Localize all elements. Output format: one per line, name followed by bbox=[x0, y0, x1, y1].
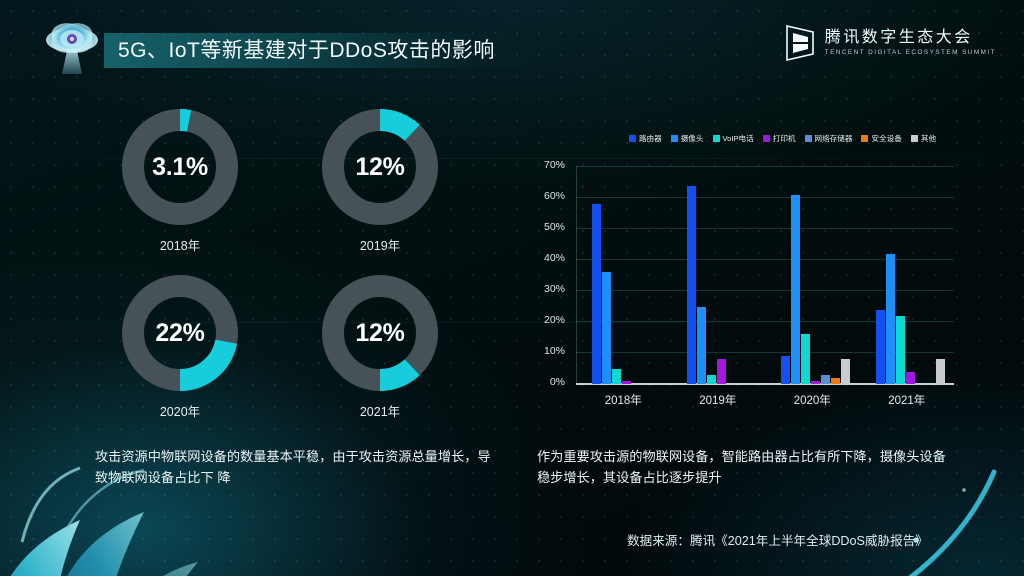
bar-2021年-其他[interactable] bbox=[936, 359, 945, 384]
legend-label: 网络存储器 bbox=[815, 133, 853, 144]
donut-value: 3.1% bbox=[121, 108, 239, 226]
legend-item-其他[interactable]: 其他 bbox=[911, 133, 936, 144]
bar-2020年-路由器[interactable] bbox=[781, 356, 790, 384]
legend-item-安全设备[interactable]: 安全设备 bbox=[861, 133, 901, 144]
bar-2020年-摄像头[interactable] bbox=[791, 195, 800, 384]
tencent-summit-mark-icon bbox=[785, 24, 815, 62]
bar-2019年-打印机[interactable] bbox=[717, 359, 726, 384]
legend-label: 其他 bbox=[921, 133, 936, 144]
flower-icon bbox=[32, 18, 118, 74]
y-axis-tick-label: 50% bbox=[529, 221, 565, 233]
bar-group-2020年 bbox=[781, 195, 850, 384]
y-axis-tick-label: 70% bbox=[529, 159, 565, 171]
x-axis-tick-label: 2019年 bbox=[678, 392, 758, 408]
donut-ring: 22% bbox=[121, 274, 239, 392]
bar-2019年-路由器[interactable] bbox=[687, 186, 696, 384]
bar-2021年-路由器[interactable] bbox=[876, 310, 885, 384]
bar-chart: 路由器摄像头VoIP电话打印机网络存储器安全设备其他 2018年2019年202… bbox=[525, 130, 970, 420]
y-axis-tick-label: 10% bbox=[529, 345, 565, 357]
x-axis-tick-label: 2018年 bbox=[583, 392, 663, 408]
bar-2019年-VoIP电话[interactable] bbox=[707, 375, 716, 384]
legend-label: 路由器 bbox=[639, 133, 662, 144]
bar-2020年-VoIP电话[interactable] bbox=[801, 334, 810, 384]
donut-chart-panel: 3.1%2018年12%2019年22%2020年12%2021年 bbox=[86, 108, 506, 438]
bar-group-2019年 bbox=[687, 186, 756, 384]
bar-2018年-路由器[interactable] bbox=[592, 204, 601, 384]
donut-ring: 12% bbox=[321, 108, 439, 226]
y-axis-tick-label: 60% bbox=[529, 190, 565, 202]
page-title: 5G、IoT等新基建对于DDoS攻击的影响 bbox=[118, 33, 495, 68]
caption-left: 攻击资源中物联网设备的数量基本平稳，由于攻击资源总量增长，导致物联网设备占比下 … bbox=[95, 446, 495, 488]
legend-swatch-icon bbox=[763, 135, 770, 142]
x-axis-tick-label: 2020年 bbox=[772, 392, 852, 408]
y-axis-tick-label: 30% bbox=[529, 283, 565, 295]
logo-title-en: TENCENT DIGITAL ECOSYSTEM SUMMIT bbox=[825, 49, 996, 57]
caption-right: 作为重要攻击源的物联网设备，智能路由器占比有所下降，摄像头设备稳步增长，其设备占… bbox=[537, 446, 957, 488]
bar-2020年-打印机[interactable] bbox=[811, 381, 820, 384]
donut-chart-2021年: 12%2021年 bbox=[300, 274, 460, 420]
bar-2021年-摄像头[interactable] bbox=[886, 254, 895, 384]
donut-chart-2019年: 12%2019年 bbox=[300, 108, 460, 254]
x-axis-labels: 2018年2019年2020年2021年 bbox=[576, 392, 954, 412]
y-axis-tick-label: 0% bbox=[529, 376, 565, 388]
bar-2019年-摄像头[interactable] bbox=[697, 307, 706, 385]
slide-header: 5G、IoT等新基建对于DDoS攻击的影响 腾讯数字生态大会 TENCENT D… bbox=[0, 0, 1024, 84]
legend-label: 安全设备 bbox=[871, 133, 901, 144]
legend-label: VoIP电话 bbox=[723, 133, 754, 144]
bar-2021年-VoIP电话[interactable] bbox=[896, 316, 905, 384]
legend-swatch-icon bbox=[629, 135, 636, 142]
gridline bbox=[576, 166, 954, 167]
donut-label: 2020年 bbox=[100, 401, 260, 420]
donut-ring: 12% bbox=[321, 274, 439, 392]
legend-swatch-icon bbox=[911, 135, 918, 142]
legend-swatch-icon bbox=[805, 135, 812, 142]
chart-legend: 路由器摄像头VoIP电话打印机网络存储器安全设备其他 bbox=[605, 130, 960, 146]
legend-item-打印机[interactable]: 打印机 bbox=[763, 133, 796, 144]
y-axis-tick-label: 40% bbox=[529, 252, 565, 264]
bar-2020年-其他[interactable] bbox=[841, 359, 850, 384]
bar-2020年-安全设备[interactable] bbox=[831, 378, 840, 384]
donut-chart-2020年: 22%2020年 bbox=[100, 274, 260, 420]
donut-value: 12% bbox=[321, 274, 439, 392]
bar-2020年-网络存储器[interactable] bbox=[821, 375, 830, 384]
donut-ring: 3.1% bbox=[121, 108, 239, 226]
legend-swatch-icon bbox=[713, 135, 720, 142]
legend-label: 摄像头 bbox=[681, 133, 704, 144]
donut-value: 22% bbox=[121, 274, 239, 392]
tencent-summit-logo: 腾讯数字生态大会 TENCENT DIGITAL ECOSYSTEM SUMMI… bbox=[785, 22, 996, 64]
bar-2018年-VoIP电话[interactable] bbox=[612, 369, 621, 385]
bar-group-2018年 bbox=[592, 204, 661, 384]
legend-item-路由器[interactable]: 路由器 bbox=[629, 133, 662, 144]
x-axis-tick-label: 2021年 bbox=[867, 392, 947, 408]
bar-2018年-摄像头[interactable] bbox=[602, 272, 611, 384]
donut-value: 12% bbox=[321, 108, 439, 226]
donut-label: 2019年 bbox=[300, 235, 460, 254]
y-axis-tick-label: 20% bbox=[529, 314, 565, 326]
chart-plot-area: 2018年2019年2020年2021年 0%10%20%30%40%50%60… bbox=[525, 166, 970, 402]
legend-swatch-icon bbox=[861, 135, 868, 142]
donut-chart-2018年: 3.1%2018年 bbox=[100, 108, 260, 254]
bar-2021年-打印机[interactable] bbox=[906, 372, 915, 384]
legend-item-VoIP电话[interactable]: VoIP电话 bbox=[713, 133, 754, 144]
donut-label: 2018年 bbox=[100, 235, 260, 254]
data-source-footnote: 数据来源：腾讯《2021年上半年全球DDoS威胁报告》 bbox=[627, 530, 928, 549]
logo-title-cn: 腾讯数字生态大会 bbox=[825, 29, 996, 47]
bar-group-2021年 bbox=[876, 254, 945, 384]
legend-item-网络存储器[interactable]: 网络存储器 bbox=[805, 133, 853, 144]
bar-2018年-打印机[interactable] bbox=[622, 381, 631, 384]
gridline bbox=[576, 197, 954, 198]
donut-label: 2021年 bbox=[300, 401, 460, 420]
legend-label: 打印机 bbox=[773, 133, 796, 144]
legend-item-摄像头[interactable]: 摄像头 bbox=[671, 133, 704, 144]
legend-swatch-icon bbox=[671, 135, 678, 142]
